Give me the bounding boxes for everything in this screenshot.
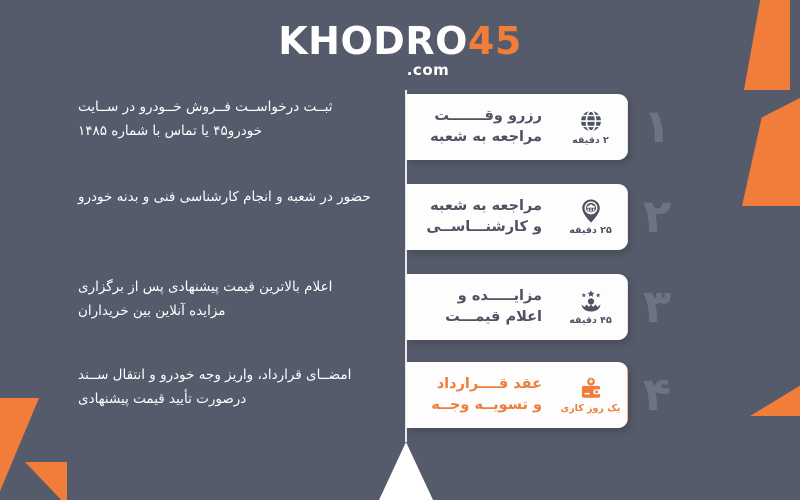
step-title-line-1: مزایـــــده و bbox=[458, 288, 542, 304]
list-item: ثبــت درخواســت فــروش خــودرو در ســایت… bbox=[0, 94, 800, 168]
steps-list: ثبــت درخواســت فــروش خــودرو در ســایت… bbox=[0, 0, 800, 500]
step-duration: ۲ دقیقه bbox=[572, 136, 609, 146]
step-number: ۱ bbox=[634, 90, 680, 162]
globe-icon bbox=[578, 108, 604, 134]
wallet-deposit-icon bbox=[578, 376, 604, 402]
step-title-line-2: و تسویــه وجــه bbox=[431, 397, 542, 413]
step-card[interactable]: رزرو وقـــــــت مراجعه به شعبه bbox=[406, 94, 628, 160]
step-number: ۳ bbox=[634, 270, 680, 342]
step-title: رزرو وقـــــــت مراجعه به شعبه bbox=[406, 94, 554, 160]
step-number: ۲ bbox=[634, 180, 680, 252]
auction-award-icon bbox=[578, 288, 604, 314]
step-meta: ۲ دقیقه bbox=[554, 94, 628, 160]
list-item: اعلام بالاترین قیمت پیشنهادی پس از برگزا… bbox=[0, 274, 800, 348]
step-description: ثبــت درخواســت فــروش خــودرو در ســایت… bbox=[64, 96, 394, 143]
step-number: ۴ bbox=[634, 358, 680, 430]
step-meta: ۲۵ دقیقه bbox=[554, 184, 628, 250]
list-item: امضــای قرارداد، واریز وجه خودرو و انتقا… bbox=[0, 362, 800, 436]
step-description: اعلام بالاترین قیمت پیشنهادی پس از برگزا… bbox=[64, 276, 394, 323]
step-title-line-1: رزرو وقـــــــت bbox=[434, 108, 542, 124]
step-card[interactable]: عقد قــــرارداد و تسویــه وجــه bbox=[406, 362, 628, 428]
step-title-line-1: عقد قــــرارداد bbox=[437, 376, 542, 392]
step-title-line-2: اعلام قیمـــت bbox=[445, 309, 542, 325]
step-duration: ۴۵ دقیقه bbox=[569, 316, 612, 326]
infographic-canvas: KHODRO45 .com ثبــت درخواســت فــروش خــ… bbox=[0, 0, 800, 500]
step-description: امضــای قرارداد، واریز وجه خودرو و انتقا… bbox=[64, 364, 394, 411]
step-meta: ۴۵ دقیقه bbox=[554, 274, 628, 340]
step-meta: یک روز کاری bbox=[554, 362, 628, 428]
step-card[interactable]: مراجعه به شعبه و کارشنـــاســی bbox=[406, 184, 628, 250]
step-title-line-1: مراجعه به شعبه bbox=[430, 198, 542, 214]
step-duration: یک روز کاری bbox=[560, 404, 620, 414]
step-title-line-2: و کارشنـــاســی bbox=[426, 219, 542, 235]
step-title: مزایـــــده و اعلام قیمـــت bbox=[406, 274, 554, 340]
step-title-line-2: مراجعه به شعبه bbox=[430, 129, 542, 145]
list-item: حضور در شعبه و انجام کارشناسی فنی و بدنه… bbox=[0, 184, 800, 258]
step-description: حضور در شعبه و انجام کارشناسی فنی و بدنه… bbox=[64, 186, 394, 210]
map-pin-bank-icon bbox=[578, 198, 604, 224]
step-card[interactable]: مزایـــــده و اعلام قیمـــت bbox=[406, 274, 628, 340]
step-duration: ۲۵ دقیقه bbox=[569, 226, 612, 236]
step-title: مراجعه به شعبه و کارشنـــاســی bbox=[406, 184, 554, 250]
step-title: عقد قــــرارداد و تسویــه وجــه bbox=[406, 362, 554, 428]
